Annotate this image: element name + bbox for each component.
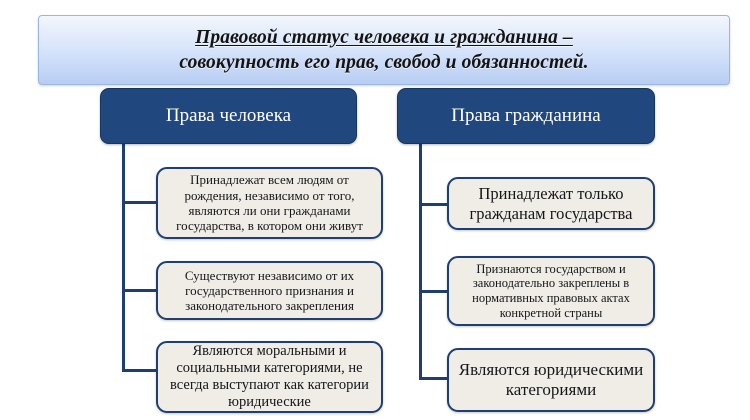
connector-right-branch-2 <box>419 290 449 293</box>
connector-left-branch-2 <box>122 289 158 292</box>
leaf-box-citizen-3: Являются юридическими категориями <box>447 348 655 412</box>
connector-left-branch-1 <box>122 201 158 204</box>
leaf-box-human-3: Являются моральными и социальными катего… <box>156 341 383 413</box>
title-line-1: Правовой статус человека и гражданина – <box>195 25 573 50</box>
connector-right-trunk <box>419 144 422 380</box>
connector-right-branch-1 <box>419 203 449 206</box>
leaf-box-citizen-2: Признаются государством и законодательно… <box>447 256 655 326</box>
title-banner: Правовой статус человека и гражданина – … <box>38 15 730 85</box>
header-box-human-rights: Права человека <box>100 88 357 144</box>
connector-left-trunk <box>122 144 125 372</box>
header-box-citizen-rights: Права гражданина <box>397 88 655 144</box>
leaf-box-human-1: Принадлежат всем людям от рождения, неза… <box>156 167 383 239</box>
leaf-box-human-2: Существуют независимо от их государствен… <box>156 261 383 320</box>
leaf-box-citizen-1: Принадлежат только гражданам государства <box>447 177 655 230</box>
title-line-2: совокупность его прав, свобод и обязанно… <box>179 50 588 75</box>
connector-left-branch-3 <box>122 369 158 372</box>
connector-right-branch-3 <box>419 377 449 380</box>
slide-canvas: Правовой статус человека и гражданина – … <box>0 0 750 420</box>
